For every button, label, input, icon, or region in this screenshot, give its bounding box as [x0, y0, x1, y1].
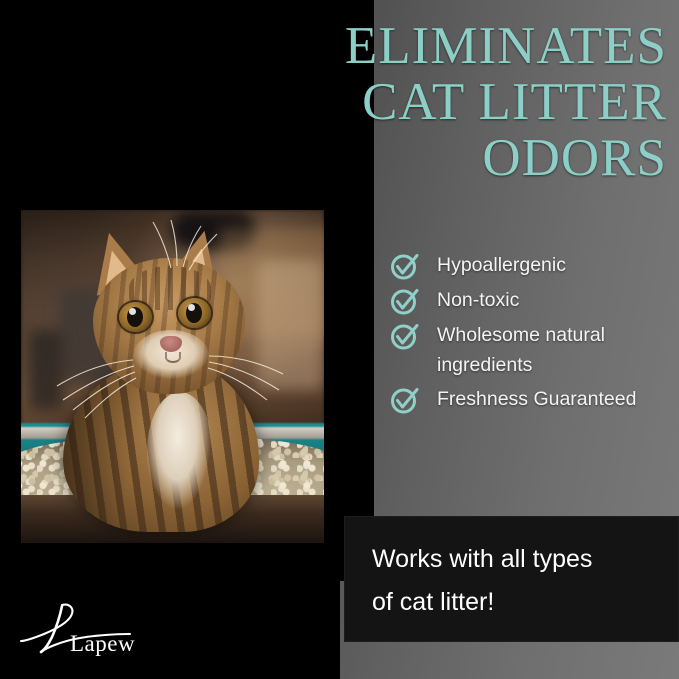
- benefit-label: Wholesome natural ingredients: [437, 320, 675, 380]
- benefit-label: Non-toxic: [437, 285, 519, 315]
- kitten-photo: [21, 210, 324, 543]
- check-circle-icon: [390, 321, 420, 351]
- benefit-item: Wholesome natural ingredients: [390, 320, 675, 380]
- benefit-label: Freshness Guaranteed: [437, 384, 636, 414]
- caption-text: Works with all types of cat litter!: [372, 538, 672, 624]
- brand-logo: Lapew: [18, 600, 178, 662]
- product-ad-image: ELIMINATES CAT LITTER ODORS: [0, 0, 679, 679]
- benefit-label: Hypoallergenic: [437, 250, 566, 280]
- brand-name: Lapew: [70, 631, 135, 657]
- headline-line-1: ELIMINATES: [247, 18, 667, 74]
- kitten: [21, 210, 324, 543]
- benefit-item: Freshness Guaranteed: [390, 384, 675, 415]
- headline-line-3: ODORS: [247, 130, 667, 186]
- headline-line-2: CAT LITTER: [247, 74, 667, 130]
- kitten-whiskers: [21, 210, 324, 543]
- benefit-item: Hypoallergenic: [390, 250, 675, 281]
- caption-box: Works with all types of cat litter!: [344, 516, 679, 642]
- benefit-item: Non-toxic: [390, 285, 675, 316]
- check-circle-icon: [390, 385, 420, 415]
- benefits-list: Hypoallergenic Non-toxic Wholesome natur…: [390, 250, 675, 419]
- headline: ELIMINATES CAT LITTER ODORS: [247, 18, 667, 186]
- caption-line-1: Works with all types: [372, 538, 672, 581]
- photo-scene: [21, 210, 324, 543]
- caption-line-2: of cat litter!: [372, 581, 672, 624]
- check-circle-icon: [390, 251, 420, 281]
- check-circle-icon: [390, 286, 420, 316]
